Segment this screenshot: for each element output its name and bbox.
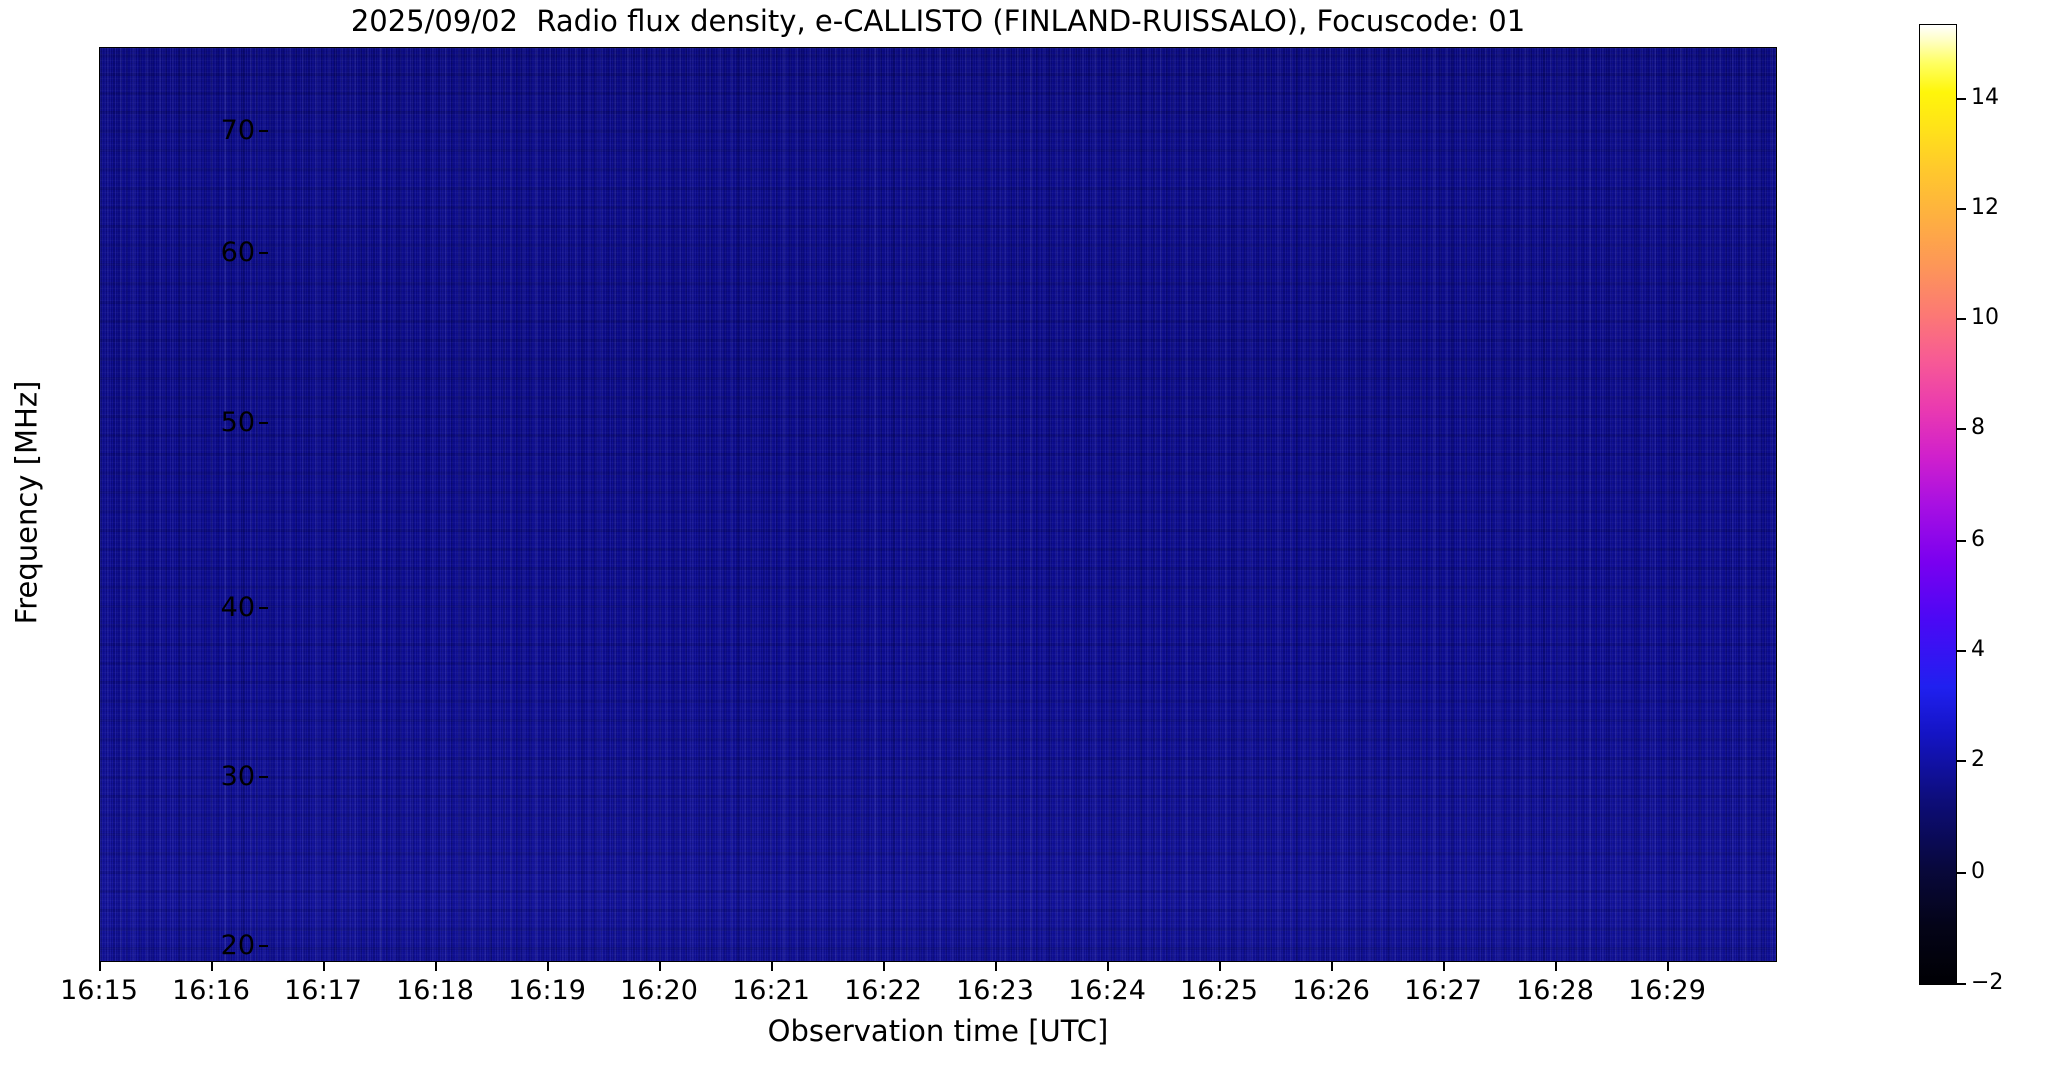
x-tick-mark [883, 962, 885, 971]
x-tick-label: 16:17 [284, 976, 362, 1005]
colorbar-tick-mark [1957, 650, 1966, 652]
x-tick-mark [323, 962, 325, 971]
x-tick-mark [995, 962, 997, 971]
x-tick-mark [547, 962, 549, 971]
colorbar-tick-label: 10 [1971, 307, 1999, 329]
y-tick-mark [259, 945, 268, 947]
colorbar-tick-mark [1957, 208, 1966, 210]
x-axis-label: Observation time [UTC] [99, 1014, 1777, 1048]
colorbar-tick-mark [1957, 872, 1966, 874]
y-tick-mark [259, 607, 268, 609]
y-tick-mark [259, 252, 268, 254]
x-tick-label: 16:18 [396, 976, 474, 1005]
colorbar[interactable] [1919, 24, 1957, 985]
colorbar-tick-label: 12 [1971, 197, 1999, 219]
colorbar-tick-mark [1957, 98, 1966, 100]
x-tick-mark [1331, 962, 1333, 971]
x-tick-mark [435, 962, 437, 971]
x-tick-label: 16:21 [732, 976, 810, 1005]
y-tick-label: 70 [221, 117, 255, 144]
x-tick-label: 16:28 [1516, 976, 1594, 1005]
x-tick-label: 16:26 [1292, 976, 1370, 1005]
x-tick-label: 16:24 [1068, 976, 1146, 1005]
x-tick-mark [1667, 962, 1669, 971]
y-tick-label: 20 [221, 932, 255, 959]
y-tick-label: 30 [221, 763, 255, 790]
x-tick-label: 16:20 [620, 976, 698, 1005]
x-tick-mark [1555, 962, 1557, 971]
x-tick-label: 16:29 [1628, 976, 1706, 1005]
x-tick-label: 16:15 [60, 976, 138, 1005]
x-tick-label: 16:23 [956, 976, 1034, 1005]
x-tick-mark [659, 962, 661, 971]
x-tick-mark [1443, 962, 1445, 971]
x-tick-label: 16:16 [172, 976, 250, 1005]
colorbar-tick-mark [1957, 760, 1966, 762]
spectrogram-plot-area[interactable] [99, 47, 1777, 962]
x-tick-label: 16:27 [1404, 976, 1482, 1005]
page-title: 2025/09/02 Radio flux density, e-CALLIST… [99, 2, 1777, 40]
x-tick-label: 16:19 [508, 976, 586, 1005]
colorbar-tick-mark [1957, 983, 1966, 985]
colorbar-tick-mark [1957, 428, 1966, 430]
colorbar-tick-mark [1957, 540, 1966, 542]
x-tick-mark [99, 962, 101, 971]
y-tick-label: 60 [221, 239, 255, 266]
colorbar-tick-label: 0 [1971, 861, 1985, 883]
x-tick-mark [1219, 962, 1221, 971]
colorbar-tick-mark [1957, 318, 1966, 320]
colorbar-gradient [1919, 24, 1957, 985]
x-tick-label: 16:25 [1180, 976, 1258, 1005]
y-tick-label: 50 [221, 409, 255, 436]
y-tick-mark [259, 130, 268, 132]
colorbar-tick-label: 8 [1971, 417, 1985, 439]
x-tick-mark [1107, 962, 1109, 971]
y-tick-label: 40 [221, 594, 255, 621]
x-tick-label: 16:22 [844, 976, 922, 1005]
y-axis-label: Frequency [MHz] [13, 293, 42, 713]
y-tick-mark [259, 422, 268, 424]
y-tick-mark [259, 776, 268, 778]
spectrogram-image [100, 48, 1776, 961]
x-tick-mark [771, 962, 773, 971]
colorbar-tick-label: 4 [1971, 639, 1985, 661]
colorbar-tick-label: 14 [1971, 87, 1999, 109]
colorbar-tick-label: 6 [1971, 529, 1985, 551]
colorbar-tick-label: −2 [1971, 972, 2003, 994]
x-tick-mark [211, 962, 213, 971]
figure-canvas: 2025/09/02 Radio flux density, e-CALLIST… [0, 0, 2047, 1067]
colorbar-tick-label: 2 [1971, 749, 1985, 771]
